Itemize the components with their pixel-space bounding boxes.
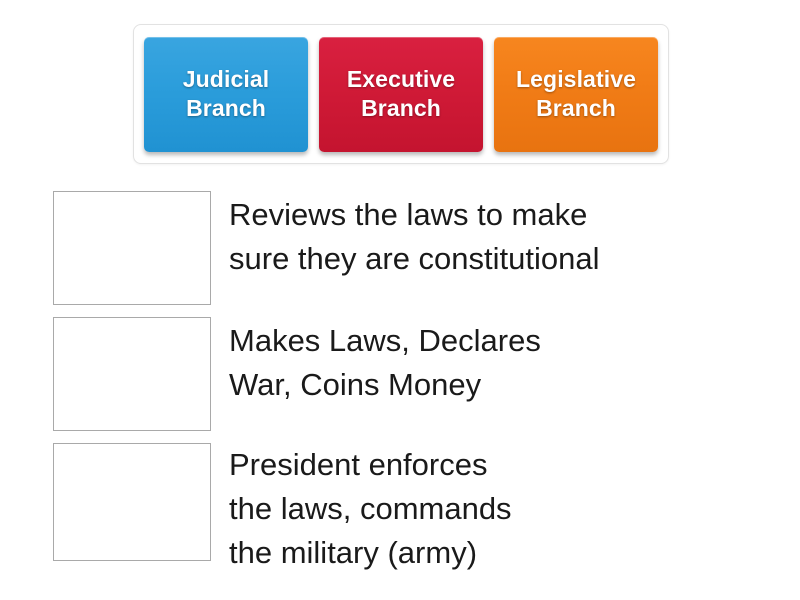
match-row-2: Makes Laws, Declares War, Coins Money (53, 317, 541, 431)
draggable-tiles-tray: Judicial Branch Executive Branch Legisla… (133, 24, 669, 164)
drop-zone-3[interactable] (53, 443, 211, 561)
drop-zone-1[interactable] (53, 191, 211, 305)
match-up-activity: Judicial Branch Executive Branch Legisla… (0, 0, 800, 600)
draggable-tile-executive[interactable]: Executive Branch (319, 37, 483, 152)
tile-label-judicial: Judicial Branch (144, 65, 308, 123)
draggable-tile-judicial[interactable]: Judicial Branch (144, 37, 308, 152)
match-row-1: Reviews the laws to make sure they are c… (53, 191, 600, 305)
tile-label-executive: Executive Branch (319, 65, 483, 123)
match-row-2-text: Makes Laws, Declares War, Coins Money (229, 317, 541, 407)
drop-zone-2[interactable] (53, 317, 211, 431)
tile-label-legislative: Legislative Branch (494, 65, 658, 123)
draggable-tile-legislative[interactable]: Legislative Branch (494, 37, 658, 152)
match-row-1-text: Reviews the laws to make sure they are c… (229, 191, 600, 281)
match-row-3-text: President enforces the laws, commands th… (229, 443, 512, 575)
match-row-3: President enforces the laws, commands th… (53, 443, 512, 575)
